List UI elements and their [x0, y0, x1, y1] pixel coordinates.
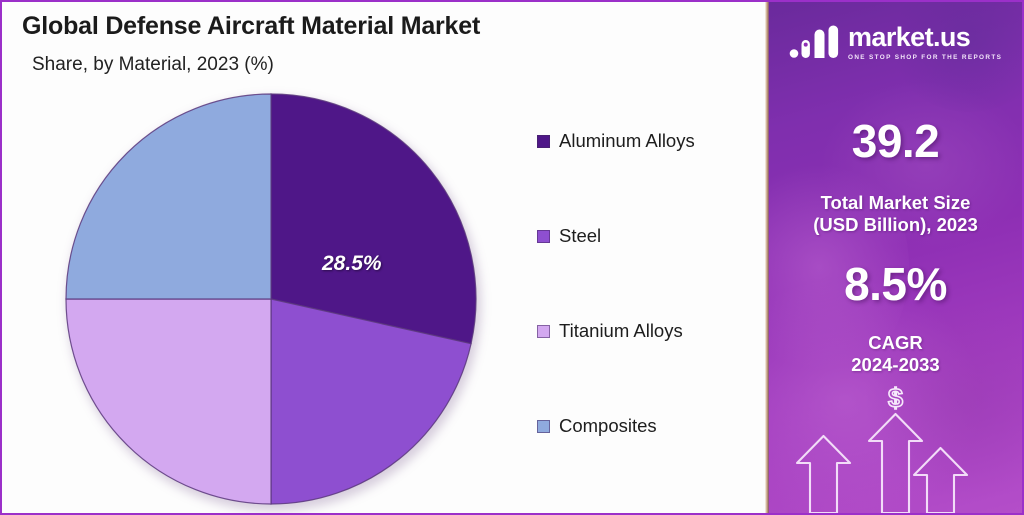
infographic-container: Global Defense Aircraft Material Market …: [0, 0, 1024, 515]
legend-label-titanium-alloys: Titanium Alloys: [559, 320, 683, 342]
pie-slice-composites[interactable]: [66, 94, 271, 299]
brand-logo[interactable]: market.us ONE STOP SHOP FOR THE REPORTS: [789, 24, 1004, 70]
chart-area: Global Defense Aircraft Material Market …: [2, 2, 765, 513]
legend-swatch-icon-composites: [537, 420, 550, 433]
growth-arrows-icon: $: [769, 383, 1022, 513]
legend-item-titanium-alloys[interactable]: Titanium Alloys: [537, 320, 683, 342]
stat-value-cagr: 8.5%: [769, 257, 1022, 311]
legend-label-composites: Composites: [559, 415, 657, 437]
bar-chart-logo-icon: [789, 25, 841, 64]
legend-label-steel: Steel: [559, 225, 601, 247]
stat-caption-market-size-line2: (USD Billion), 2023: [813, 214, 977, 235]
legend-item-composites[interactable]: Composites: [537, 415, 657, 437]
stat-caption-market-size: Total Market Size (USD Billion), 2023: [769, 192, 1022, 236]
side-panel: market.us ONE STOP SHOP FOR THE REPORTS …: [769, 2, 1022, 513]
pie-slice-titanium-alloys[interactable]: [66, 299, 271, 504]
page-title: Global Defense Aircraft Material Market: [22, 12, 480, 41]
pie-chart: 28.5%: [64, 92, 478, 506]
stat-value-market-size: 39.2: [769, 114, 1022, 168]
pie-slice-label-aluminum-alloys: 28.5%: [322, 252, 382, 276]
logo-wordmark: market.us: [848, 24, 1002, 51]
pie-slices: [66, 94, 476, 504]
logo-text-group: market.us ONE STOP SHOP FOR THE REPORTS: [848, 24, 1002, 61]
stat-caption-market-size-line1: Total Market Size: [821, 192, 971, 213]
legend-swatch-icon-steel: [537, 230, 550, 243]
legend-swatch-icon-aluminum-alloys: [537, 135, 550, 148]
legend-swatch-icon-titanium-alloys: [537, 325, 550, 338]
stat-caption-cagr: CAGR 2024-2033: [769, 332, 1022, 376]
stat-caption-cagr-line2: 2024-2033: [851, 354, 939, 375]
dollar-sign-icon: $: [888, 383, 903, 413]
logo-tagline: ONE STOP SHOP FOR THE REPORTS: [848, 54, 1002, 61]
legend-item-aluminum-alloys[interactable]: Aluminum Alloys: [537, 130, 695, 152]
chart-subtitle: Share, by Material, 2023 (%): [32, 54, 274, 76]
legend-label-aluminum-alloys: Aluminum Alloys: [559, 130, 695, 152]
stat-caption-cagr-line1: CAGR: [868, 332, 922, 353]
pie-chart-svg: [64, 92, 478, 506]
legend-item-steel[interactable]: Steel: [537, 225, 601, 247]
